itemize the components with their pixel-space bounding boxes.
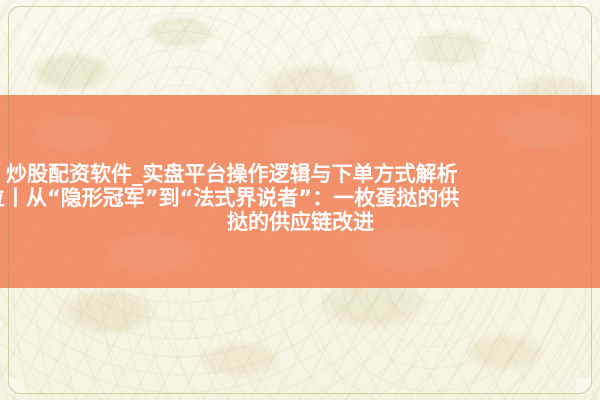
banner-headline: 炒股配资软件_实盘平台操作逻辑与下单方式解析 位丨从“隐形冠军”到“法式界说者”… xyxy=(0,162,600,234)
headline-line-1: 炒股配资软件_实盘平台操作逻辑与下单方式解析 xyxy=(6,162,600,186)
banner-image: 炒股配资软件_实盘平台操作逻辑与下单方式解析 位丨从“隐形冠军”到“法式界说者”… xyxy=(0,0,600,400)
headline-line-2: 位丨从“隐形冠军”到“法式界说者”：一枚蛋挞的供 xyxy=(0,186,600,210)
headline-line-3: 挞的供应链改进 xyxy=(227,210,600,234)
